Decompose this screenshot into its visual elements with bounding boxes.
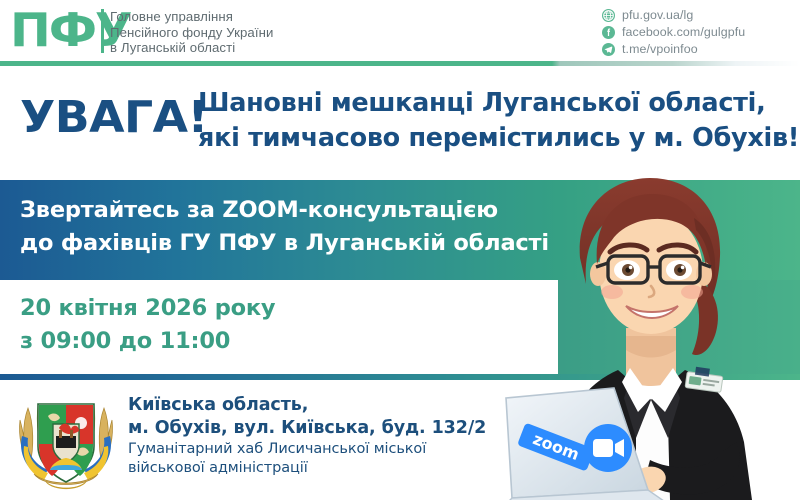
address-line-1: Київська область, — [128, 394, 486, 417]
schedule-time: з 09:00 до 11:00 — [20, 325, 275, 358]
chevron-left-icon — [492, 280, 558, 375]
attention-message-line1: Шановні мешканці Луганської області, — [198, 86, 799, 121]
consultation-text: Звертайтесь за ZOOM-консультацією до фах… — [20, 194, 549, 260]
address-line-3: Гуманітарний хаб Лисичанської міської — [128, 440, 486, 459]
org-line-3: в Луганській області — [110, 40, 273, 56]
organisation-name: Головне управління Пенсійного фонду Укра… — [110, 9, 273, 56]
schedule-date: 20 квітня 2026 року — [20, 292, 275, 325]
contact-website[interactable]: pfu.gov.ua/lg — [602, 7, 792, 23]
attention-message: Шановні мешканці Луганської області, які… — [198, 86, 799, 156]
consultation-line2: до фахівців ГУ ПФУ в Луганській області — [20, 227, 549, 260]
poster-canvas: ПФУ Головне управління Пенсійного фонду … — [0, 0, 800, 500]
globe-icon — [602, 9, 615, 22]
logo-divider — [101, 9, 104, 53]
schedule-text: 20 квітня 2026 року з 09:00 до 11:00 — [20, 292, 275, 358]
coat-of-arms-emblem — [12, 390, 120, 494]
facebook-url: facebook.com/gulgpfu — [622, 25, 745, 39]
contact-list: pfu.gov.ua/lg facebook.com/gulgpfu t.me/… — [602, 7, 792, 58]
consultation-band: Звертайтесь за ZOOM-консультацією до фах… — [0, 180, 800, 280]
poster-header: ПФУ Головне управління Пенсійного фонду … — [0, 0, 800, 62]
consultation-line1: Звертайтесь за ZOOM-консультацією — [20, 194, 549, 227]
org-line-2: Пенсійного фонду України — [110, 25, 273, 41]
address-line-4: військової адміністрації — [128, 459, 486, 478]
facebook-icon — [602, 26, 615, 39]
website-url: pfu.gov.ua/lg — [622, 8, 693, 22]
header-divider-rule — [0, 61, 800, 66]
chevron-decoration — [380, 280, 800, 375]
address-footer: Київська область, м. Обухів, вул. Київсь… — [0, 382, 800, 500]
org-line-1: Головне управління — [110, 9, 273, 25]
address-line-2: м. Обухів, вул. Київська, буд. 132/2 — [128, 417, 486, 440]
contact-telegram[interactable]: t.me/vpoinfoo — [602, 41, 792, 57]
address-text: Київська область, м. Обухів, вул. Київсь… — [128, 394, 486, 478]
accent-strip — [0, 374, 800, 380]
attention-block: УВАГА! Шановні мешканці Луганської облас… — [0, 68, 800, 178]
attention-message-line2: які тимчасово перемістились у м. Обухів! — [198, 121, 799, 156]
schedule-band: 20 квітня 2026 року з 09:00 до 11:00 — [0, 280, 800, 375]
chevron-group — [380, 280, 800, 375]
telegram-icon — [602, 43, 615, 56]
attention-word: УВАГА! — [20, 92, 208, 143]
telegram-url: t.me/vpoinfoo — [622, 42, 698, 56]
contact-facebook[interactable]: facebook.com/gulgpfu — [602, 24, 792, 40]
